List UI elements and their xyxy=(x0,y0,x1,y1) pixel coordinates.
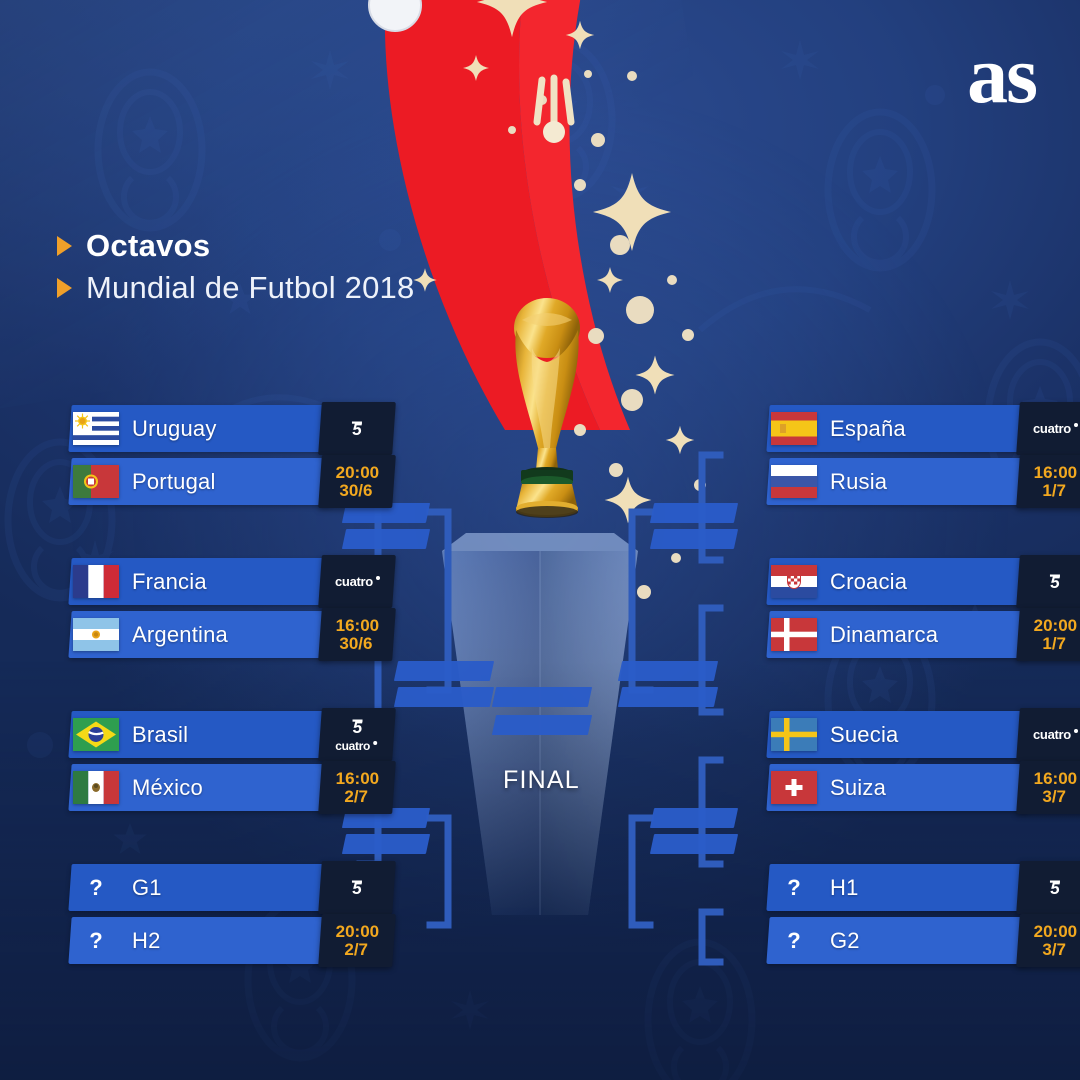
kickoff-date: 30/6 xyxy=(340,635,373,652)
team-name: Francia xyxy=(122,558,332,605)
kickoff-time: 16:00 xyxy=(336,617,379,634)
match-card[interactable]: Uruguay 5 Portugal20:0030/6 xyxy=(70,405,332,511)
flag-container xyxy=(70,558,122,605)
channel-box: cuatro xyxy=(318,555,396,608)
kickoff-box: 16:003/7 xyxy=(1016,761,1080,814)
channel-box: 5 cuatro xyxy=(318,708,396,761)
channel-telecinco-logo: 5 xyxy=(346,419,368,439)
team-row[interactable]: Uruguay 5 xyxy=(70,405,332,452)
team-name: México xyxy=(122,764,332,811)
match-card[interactable]: Franciacuatro Argentina16:0030/6 xyxy=(70,558,332,664)
team-name: H1 xyxy=(820,864,1030,911)
team-row[interactable]: Dinamarca20:001/7 xyxy=(768,611,1030,658)
flag-container xyxy=(70,611,122,658)
channel-cuatro-logo: cuatro xyxy=(1033,421,1078,436)
flag-container xyxy=(70,458,122,505)
team-row[interactable]: Rusia16:001/7 xyxy=(768,458,1030,505)
team-row[interactable]: México16:002/7 xyxy=(70,764,332,811)
brazil-flag xyxy=(73,718,119,751)
kickoff-date: 1/7 xyxy=(1043,482,1067,499)
kickoff-time: 16:00 xyxy=(336,770,379,787)
flag-container xyxy=(70,711,122,758)
kickoff-date: 3/7 xyxy=(1043,788,1067,805)
kickoff-box: 20:002/7 xyxy=(318,914,396,967)
team-name: G1 xyxy=(122,864,332,911)
flag-container xyxy=(70,764,122,811)
team-name: Suecia xyxy=(820,711,1030,758)
title-octavos: Octavos xyxy=(86,228,210,264)
channel-telecinco-logo: 5 xyxy=(1044,572,1066,592)
team-row[interactable]: Sueciacuatro xyxy=(768,711,1030,758)
match-card[interactable]: Brasil 5 cuatro México16:002/7 xyxy=(70,711,332,817)
team-row[interactable]: Argentina16:0030/6 xyxy=(70,611,332,658)
kickoff-date: 2/7 xyxy=(345,941,369,958)
team-row[interactable]: Franciacuatro xyxy=(70,558,332,605)
unknown-team-icon: ? xyxy=(70,917,122,964)
kickoff-date: 2/7 xyxy=(345,788,369,805)
france-flag xyxy=(73,565,119,598)
triangle-bullet-icon xyxy=(57,236,72,256)
unknown-team-icon: ? xyxy=(768,917,820,964)
kickoff-time: 20:00 xyxy=(1034,617,1077,634)
flag-container xyxy=(768,558,820,605)
team-row[interactable]: Croacia 5 xyxy=(768,558,1030,605)
channel-box: cuatro xyxy=(1016,708,1080,761)
kickoff-box: 16:002/7 xyxy=(318,761,396,814)
kickoff-date: 30/6 xyxy=(340,482,373,499)
channel-cuatro-logo: cuatro xyxy=(1033,727,1078,742)
channel-cuatro-logo: cuatro xyxy=(335,739,377,753)
title-row-secondary: Mundial de Futbol 2018 xyxy=(57,270,414,306)
croatia-flag xyxy=(771,565,817,598)
channel-box: 5 xyxy=(318,861,396,914)
team-name: Croacia xyxy=(820,558,1030,605)
switzerland-flag xyxy=(771,771,817,804)
argentina-flag xyxy=(73,618,119,651)
kickoff-box: 20:0030/6 xyxy=(318,455,396,508)
kickoff-time: 16:00 xyxy=(1034,464,1077,481)
team-row[interactable]: Suiza16:003/7 xyxy=(768,764,1030,811)
bracket-infographic: as Octavos Mundial de Futbol 2018 xyxy=(0,0,1080,1080)
kickoff-time: 20:00 xyxy=(336,923,379,940)
flag-container xyxy=(768,458,820,505)
kickoff-box: 16:001/7 xyxy=(1016,455,1080,508)
team-name: España xyxy=(820,405,1030,452)
team-name: Portugal xyxy=(122,458,332,505)
match-card[interactable]: Sueciacuatro Suiza16:003/7 xyxy=(768,711,1030,817)
team-name: Brasil xyxy=(122,711,332,758)
kickoff-time: 16:00 xyxy=(1034,770,1077,787)
denmark-flag xyxy=(771,618,817,651)
team-name: Dinamarca xyxy=(820,611,1030,658)
kickoff-date: 3/7 xyxy=(1043,941,1067,958)
team-row[interactable]: Españacuatro xyxy=(768,405,1030,452)
channel-cuatro-logo: cuatro xyxy=(335,574,380,589)
flag-container xyxy=(768,711,820,758)
russia-flag xyxy=(771,465,817,498)
match-card[interactable]: ?H1 5 ?G220:003/7 xyxy=(768,864,1030,970)
team-row[interactable]: Brasil 5 cuatro xyxy=(70,711,332,758)
team-name: Rusia xyxy=(820,458,1030,505)
portugal-flag xyxy=(73,465,119,498)
channel-box: 5 xyxy=(1016,555,1080,608)
world-cup-trophy xyxy=(492,288,602,528)
match-card[interactable]: Croacia 5 Dinamarca20:001/7 xyxy=(768,558,1030,664)
team-name: H2 xyxy=(122,917,332,964)
kickoff-date: 1/7 xyxy=(1043,635,1067,652)
channel-box: cuatro xyxy=(1016,402,1080,455)
match-card[interactable]: Españacuatro Rusia16:001/7 xyxy=(768,405,1030,511)
as-logo[interactable]: as xyxy=(967,34,1036,116)
team-row[interactable]: Portugal20:0030/6 xyxy=(70,458,332,505)
kickoff-time: 20:00 xyxy=(1034,923,1077,940)
team-row[interactable]: ?G220:003/7 xyxy=(768,917,1030,964)
team-name: Suiza xyxy=(820,764,1030,811)
channel-telecinco-logo: 5 xyxy=(346,878,368,898)
kickoff-time: 20:00 xyxy=(336,464,379,481)
uruguay-flag xyxy=(73,412,119,445)
channel-box: 5 xyxy=(1016,861,1080,914)
channel-box: 5 xyxy=(318,402,396,455)
channel-telecinco-logo: 5 xyxy=(347,717,369,737)
team-name: Argentina xyxy=(122,611,332,658)
team-name: G2 xyxy=(820,917,1030,964)
flag-container xyxy=(768,611,820,658)
mexico-flag xyxy=(73,771,119,804)
team-name: Uruguay xyxy=(122,405,332,452)
kickoff-box: 16:0030/6 xyxy=(318,608,396,661)
match-card[interactable]: ?G1 5 ?H220:002/7 xyxy=(70,864,332,970)
flag-container xyxy=(768,764,820,811)
page-title: Octavos Mundial de Futbol 2018 xyxy=(57,228,414,306)
team-row[interactable]: ?G1 5 xyxy=(70,864,332,911)
team-row[interactable]: ?H1 5 xyxy=(768,864,1030,911)
flag-container xyxy=(768,405,820,452)
flag-container xyxy=(70,405,122,452)
unknown-team-icon: ? xyxy=(70,864,122,911)
kickoff-box: 20:003/7 xyxy=(1016,914,1080,967)
kickoff-box: 20:001/7 xyxy=(1016,608,1080,661)
title-tournament: Mundial de Futbol 2018 xyxy=(86,270,414,306)
spain-flag xyxy=(771,412,817,445)
team-row[interactable]: ?H220:002/7 xyxy=(70,917,332,964)
channel-telecinco-logo: 5 xyxy=(1044,878,1066,898)
unknown-team-icon: ? xyxy=(768,864,820,911)
title-row-primary: Octavos xyxy=(57,228,414,264)
sweden-flag xyxy=(771,718,817,751)
triangle-bullet-icon xyxy=(57,278,72,298)
